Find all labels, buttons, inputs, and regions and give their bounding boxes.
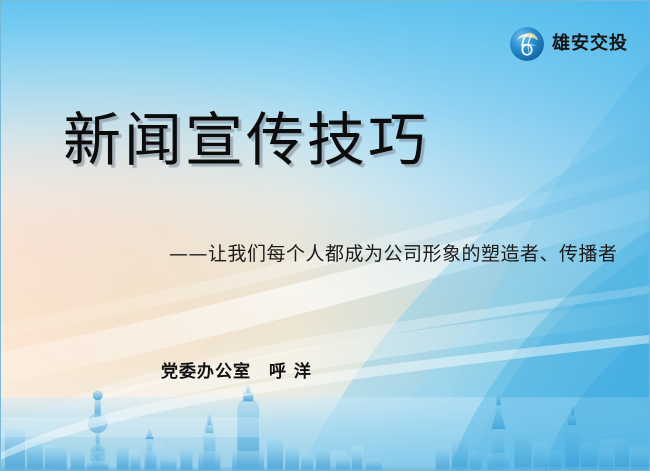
- company-logo-text: 雄安交投: [552, 35, 628, 53]
- subtitle: ——让我们每个人都成为公司形象的塑造者、传播者: [169, 239, 618, 266]
- page-title: 新闻宣传技巧: [63, 109, 429, 173]
- slide-background: [1, 1, 649, 470]
- title-slide: 雄安交投 新闻宣传技巧 ——让我们每个人都成为公司形象的塑造者、传播者 党委办公…: [0, 0, 650, 471]
- xiongan-jiaotou-emblem-icon: [509, 26, 545, 62]
- presenter-line: 党委办公室 呼 洋: [161, 357, 312, 382]
- company-logo: 雄安交投: [509, 26, 628, 62]
